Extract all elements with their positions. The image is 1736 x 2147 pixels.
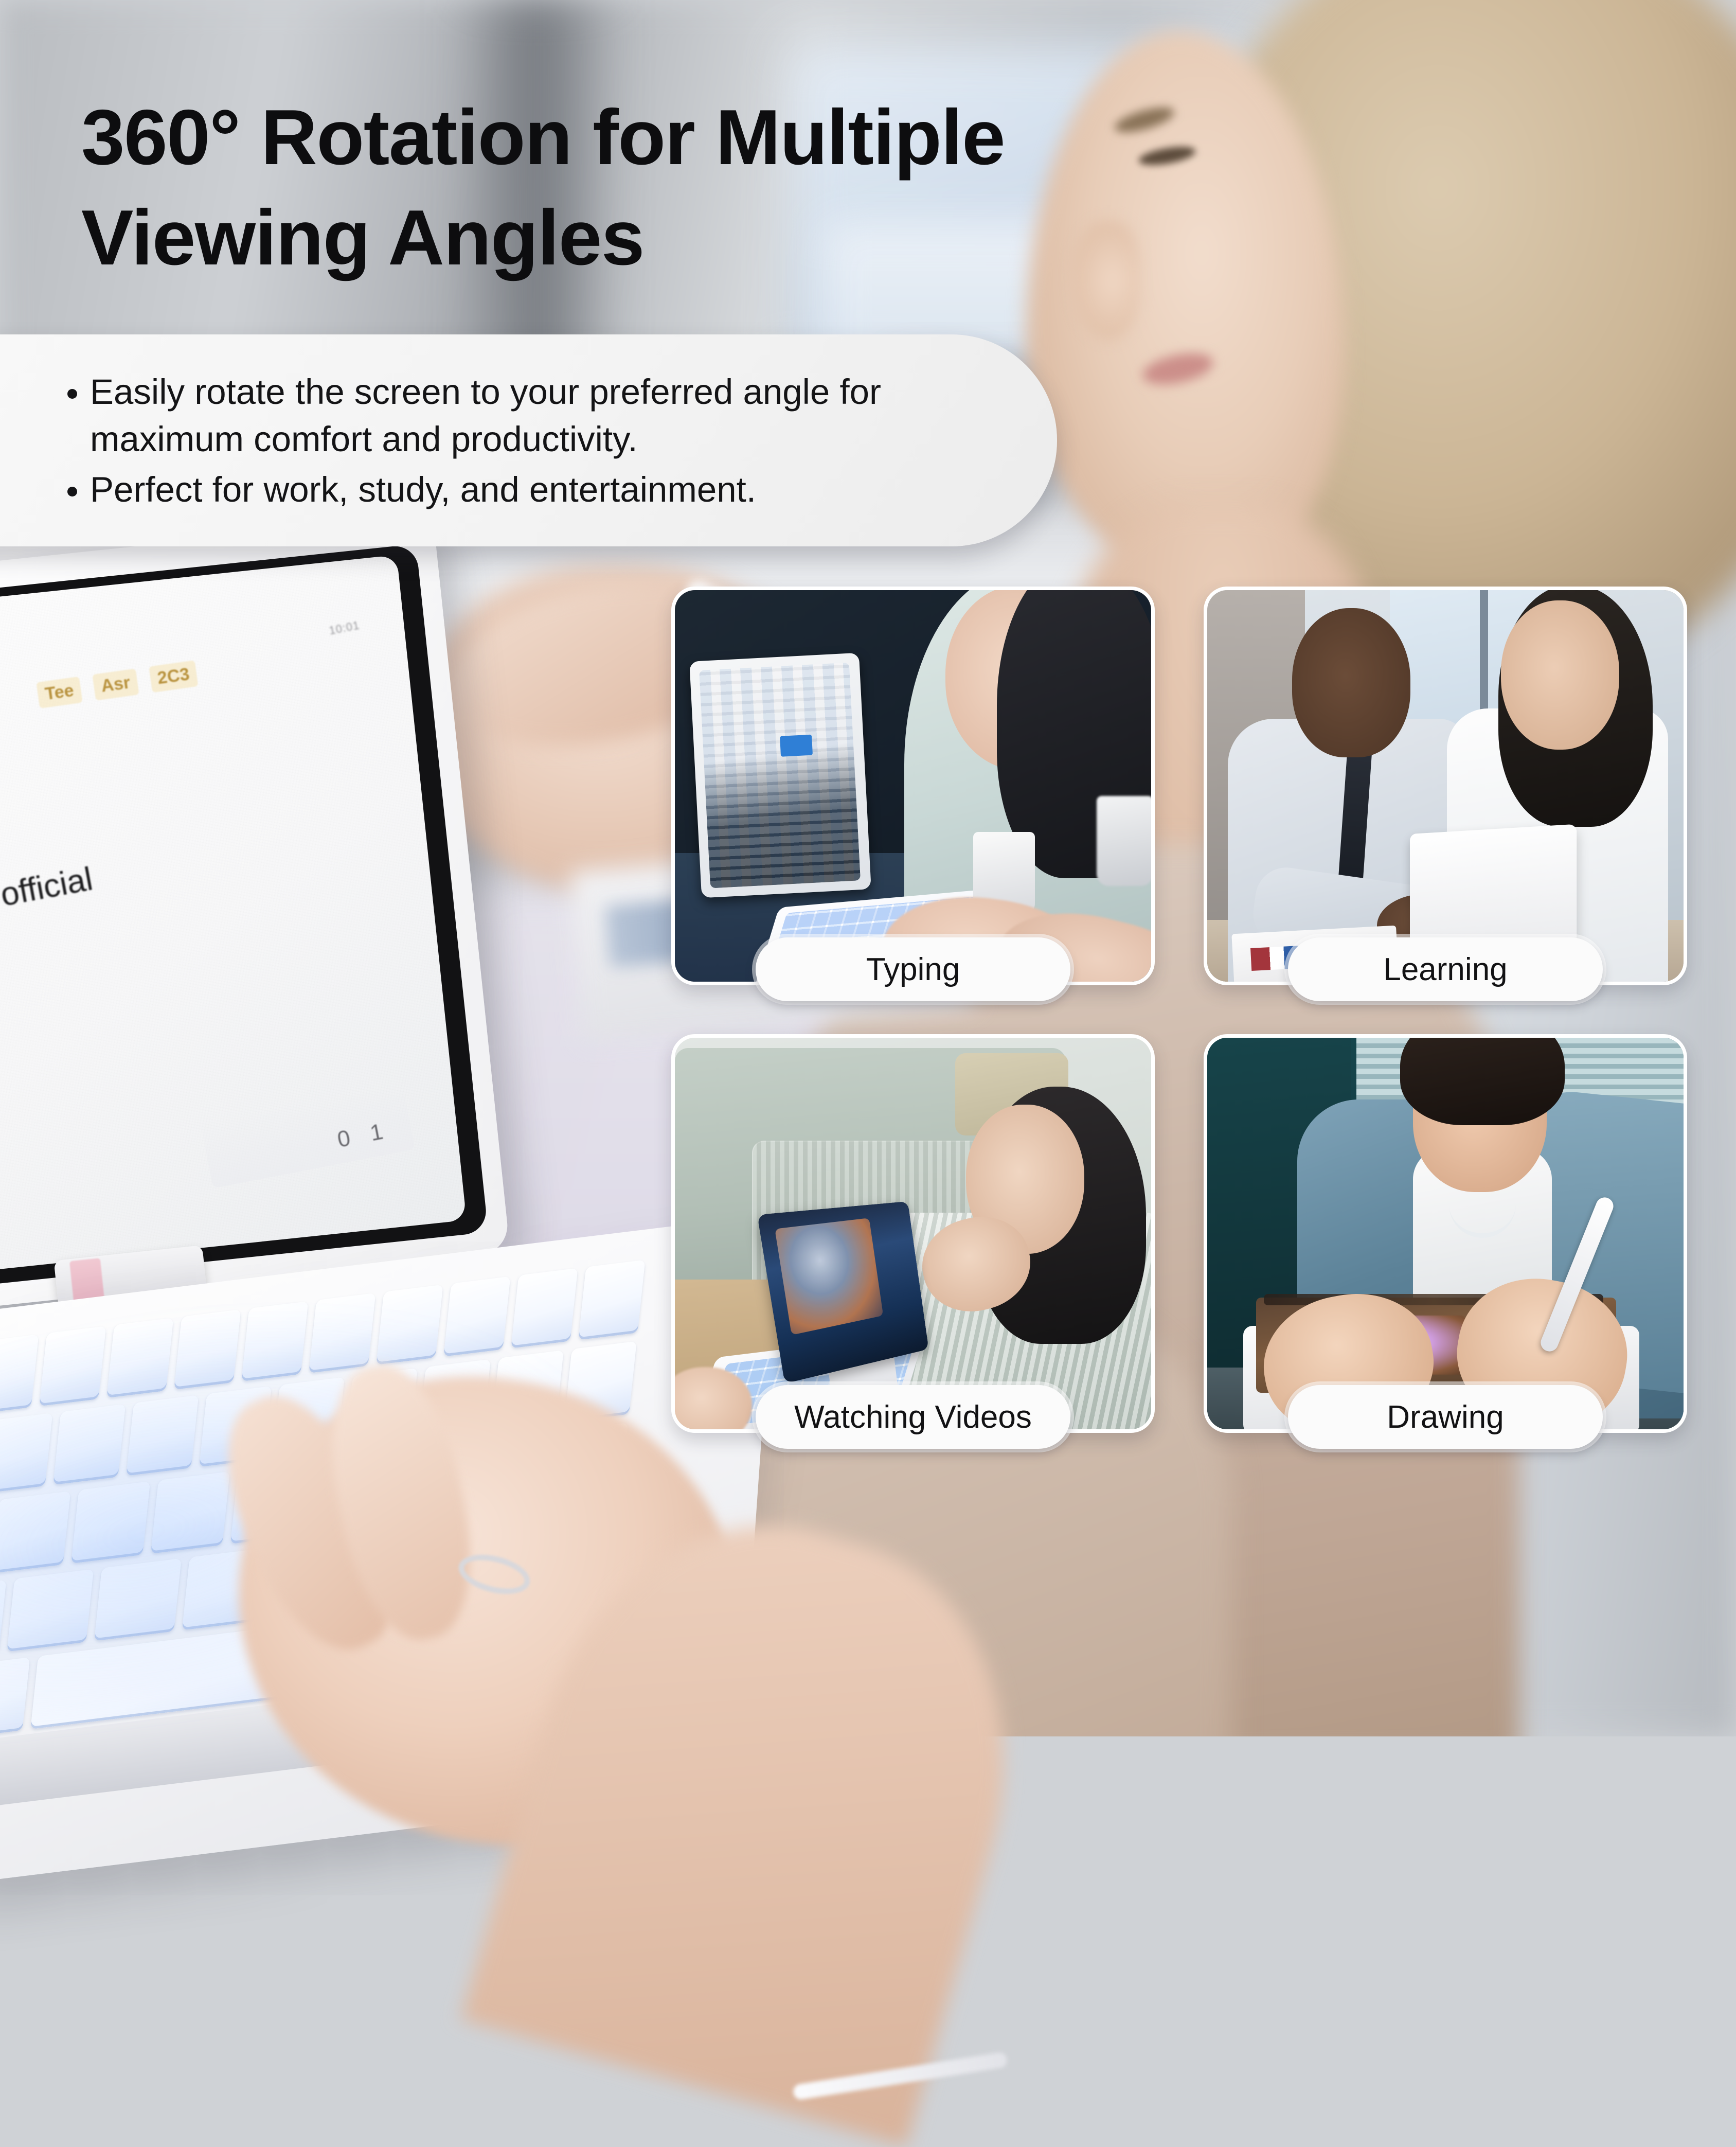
use-case-label-drawing: Drawing [1288, 1385, 1603, 1449]
photo-scene-typing [675, 590, 1151, 982]
use-case-label-text: Drawing [1387, 1399, 1504, 1435]
use-case-label-typing: Typing [756, 937, 1070, 1001]
use-case-label-text: Learning [1383, 951, 1507, 988]
use-case-photo-drawing [1207, 1038, 1684, 1429]
use-case-card-learning[interactable]: Learning [1204, 587, 1687, 985]
scene-tablet-screen [699, 663, 861, 889]
scene-coffee-cup-2 [1097, 796, 1151, 886]
use-case-label-text: Watching Videos [794, 1399, 1032, 1435]
use-case-photo-typing [675, 590, 1151, 982]
tablet-screen: 10:01 Tee Asr 2C3 Solus official 0 1 [0, 555, 467, 1279]
use-case-photo-watching-videos [675, 1038, 1151, 1429]
use-case-label-watching-videos: Watching Videos [756, 1385, 1070, 1449]
headline-line-1: 360° Rotation for Multiple [81, 87, 1161, 188]
photo-scene-drawing [1207, 1038, 1684, 1429]
foreground-tablet-keyboard: 10:01 Tee Asr 2C3 Solus official 0 1 [0, 535, 689, 1770]
page-title: 360° Rotation for Multiple Viewing Angle… [81, 87, 1161, 288]
scene-screen-highlight [780, 735, 813, 757]
scene-screen-content [699, 663, 861, 889]
use-case-card-watching-videos[interactable]: Watching Videos [671, 1034, 1155, 1433]
use-case-grid: Typing [671, 587, 1687, 1477]
use-case-card-drawing[interactable]: Drawing [1204, 1034, 1687, 1433]
photo-scene-learning [1207, 590, 1684, 982]
scene-man-head [1292, 608, 1410, 757]
use-case-label-learning: Learning [1288, 937, 1603, 1001]
scene-woman-head [1501, 600, 1619, 750]
headline-line-2: Viewing Angles [81, 188, 1161, 288]
feature-bullets-list: Easily rotate the screen to your preferr… [0, 334, 1057, 513]
bullet-item: Easily rotate the screen to your preferr… [90, 368, 903, 463]
use-case-label-text: Typing [866, 951, 960, 988]
use-case-card-typing[interactable]: Typing [671, 587, 1155, 985]
bullet-item: Perfect for work, study, and entertainme… [90, 466, 903, 513]
feature-bullets-card: Easily rotate the screen to your preferr… [0, 334, 1057, 546]
use-case-photo-learning [1207, 590, 1684, 982]
scene-hair [1400, 1038, 1565, 1125]
photo-scene-watching-videos [675, 1038, 1151, 1429]
scene-tablet-video [775, 1218, 883, 1335]
